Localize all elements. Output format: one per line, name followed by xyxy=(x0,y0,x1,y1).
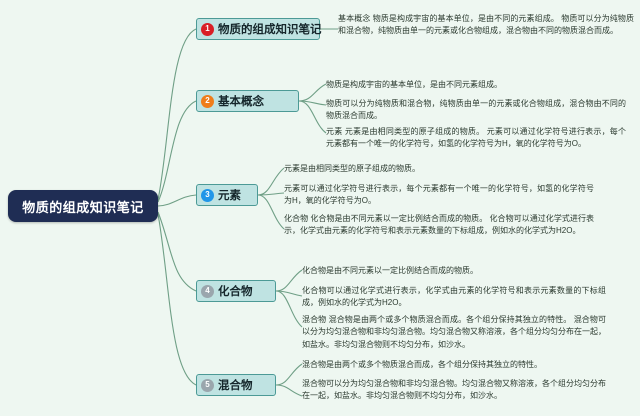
branch-node-1[interactable]: 1 物质的组成知识笔记 xyxy=(196,18,320,40)
branch-label-1: 物质的组成知识笔记 xyxy=(218,21,322,37)
branch-node-2[interactable]: 2 基本概念 xyxy=(196,90,299,112)
branch-node-4[interactable]: 4 化合物 xyxy=(196,280,276,302)
edge-branch-3-detail-1 xyxy=(258,168,284,195)
branch-node-3[interactable]: 3 元素 xyxy=(196,184,258,206)
edge-root-to-branch-1 xyxy=(158,29,196,200)
branch-label-3: 元素 xyxy=(218,187,241,203)
detail-text-5-1: 混合物是由两个或多个物质混合而成，各个组分保持其独立的特性。 xyxy=(302,359,606,371)
detail-text-2-1: 物质是构成宇宙的基本单位，是由不同元素组成。 xyxy=(326,79,626,91)
detail-text-4-2: 化合物可以通过化学式进行表示，化学式由元素的化学符号和表示元素数量的下标组成，例… xyxy=(302,285,606,310)
branch-badge-1: 1 xyxy=(201,23,214,36)
edge-root-to-branch-3 xyxy=(158,195,196,206)
branch-badge-4: 4 xyxy=(201,285,214,298)
detail-text-3-1: 元素是由相同类型的原子组成的物质。 xyxy=(284,163,594,175)
edge-branch-2-detail-1 xyxy=(299,84,326,101)
edge-branch-4-detail-1 xyxy=(276,270,302,291)
root-node-label: 物质的组成知识笔记 xyxy=(22,197,144,216)
branch-node-5[interactable]: 5 混合物 xyxy=(196,374,276,396)
detail-text-4-3: 混合物 混合物是由两个或多个物质混合而成。各个组分保持其独立的特性。 混合物可以… xyxy=(302,314,606,351)
branch-badge-3: 3 xyxy=(201,189,214,202)
edge-root-to-branch-4 xyxy=(158,212,196,291)
edge-branch-5-detail-1 xyxy=(276,364,302,385)
branch-label-5: 混合物 xyxy=(218,377,253,393)
detail-text-5-2: 混合物可以分为均匀混合物和非均匀混合物。均匀混合物又称溶液，各个组分均匀分布在一… xyxy=(302,378,606,403)
mindmap-canvas: 物质的组成知识笔记 1 物质的组成知识笔记 基本概念 物质是构成宇宙的基本单位，… xyxy=(0,0,640,416)
edge-root-to-branch-5 xyxy=(158,214,196,385)
edge-branch-2-detail-3 xyxy=(299,101,326,133)
edge-branch-5-detail-2 xyxy=(276,385,302,396)
edge-branch-4-detail-2 xyxy=(276,291,302,296)
branch-badge-2: 2 xyxy=(201,95,214,108)
root-node[interactable]: 物质的组成知识笔记 xyxy=(8,190,158,222)
branch-badge-5: 5 xyxy=(201,379,214,392)
detail-text-4-1: 化合物是由不同元素以一定比例结合而成的物质。 xyxy=(302,265,606,277)
detail-text-2-3: 元素 元素是由相同类型的原子组成的物质。 元素可以通过化学符号进行表示，每个元素… xyxy=(326,126,626,151)
detail-text-1-1: 基本概念 物质是构成宇宙的基本单位，是由不同的元素组成。 物质可以分为纯物质和混… xyxy=(338,13,634,38)
detail-text-2-2: 物质可以分为纯物质和混合物，纯物质由单一的元素或化合物组成，混合物由不同的物质混… xyxy=(326,98,626,123)
edge-root-to-branch-2 xyxy=(158,101,196,202)
edge-branch-4-detail-3 xyxy=(276,291,302,327)
detail-text-3-2: 元素可以通过化学符号进行表示，每个元素都有一个唯一的化学符号，如氢的化学符号为H… xyxy=(284,183,594,208)
edge-branch-3-detail-3 xyxy=(258,195,284,229)
edge-branch-3-detail-2 xyxy=(258,193,284,195)
detail-text-3-3: 化合物 化合物是由不同元素以一定比例结合而成的物质。 化合物可以通过化学式进行表… xyxy=(284,213,594,238)
branch-label-4: 化合物 xyxy=(218,283,253,299)
edge-branch-2-detail-2 xyxy=(299,101,326,105)
branch-label-2: 基本概念 xyxy=(218,93,264,109)
